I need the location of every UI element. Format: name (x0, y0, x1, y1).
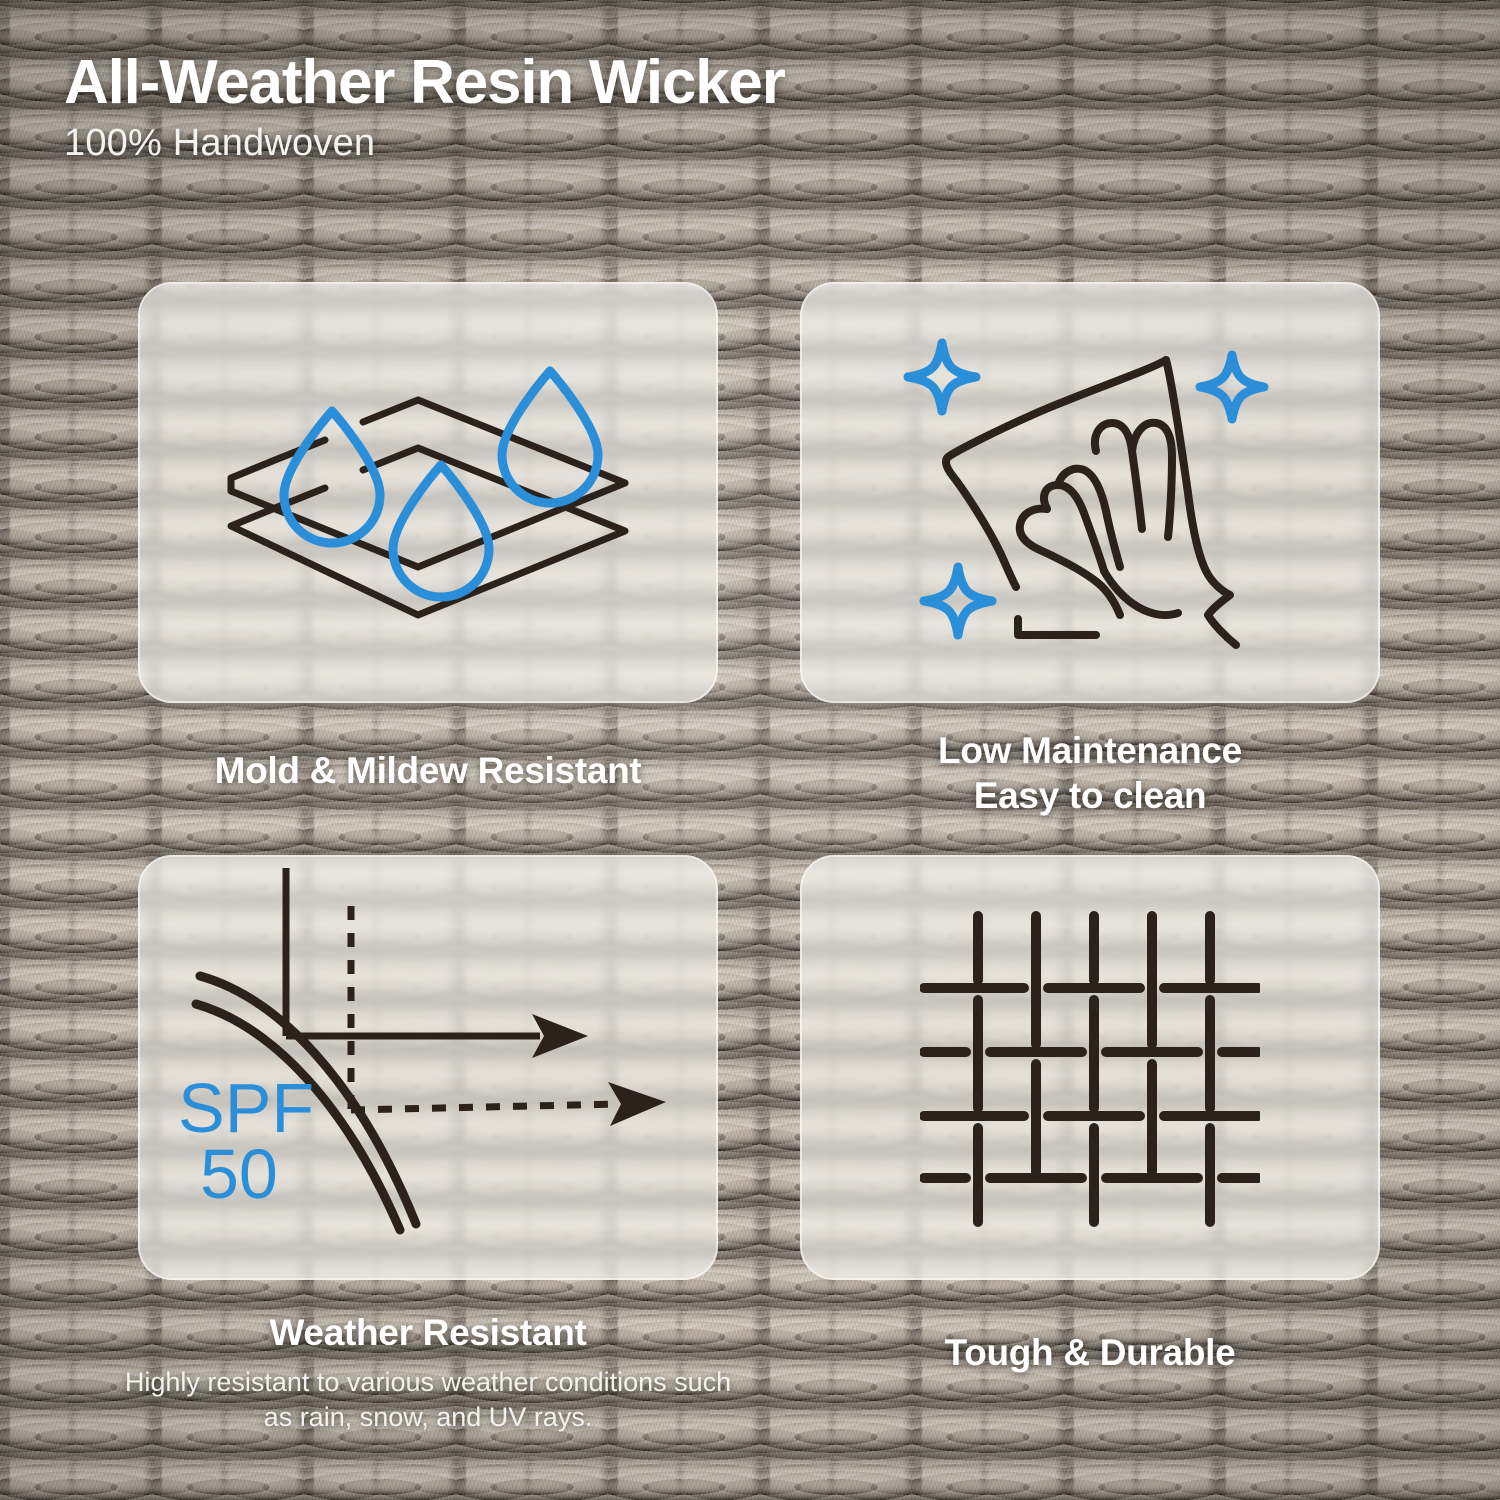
header-block: All-Weather Resin Wicker 100% Handwoven (64, 52, 785, 165)
product-feature-infographic: All-Weather Resin Wicker 100% Handwoven (0, 0, 1500, 1500)
caption-title: Tough & Durable (800, 1330, 1380, 1375)
page-title: All-Weather Resin Wicker (64, 52, 785, 114)
spf-uv-ray-deflection-icon: SPF 50 (168, 868, 688, 1268)
feature-card-mold-mildew (138, 282, 718, 703)
caption-title-line-1: Low Maintenance (800, 728, 1380, 773)
feature-card-low-maintenance (800, 282, 1380, 703)
page-subtitle: 100% Handwoven (64, 122, 785, 165)
icon-container (140, 284, 716, 701)
dashed-arrow-head (608, 1082, 666, 1126)
caption-mold-mildew: Mold & Mildew Resistant (138, 748, 718, 793)
hand-wiping-cloth-sparkles-icon (900, 333, 1280, 653)
caption-description: Highly resistant to various weather cond… (108, 1365, 748, 1434)
icon-container: SPF 50 (140, 857, 716, 1278)
caption-tough-durable: Tough & Durable (800, 1330, 1380, 1375)
water-droplets-on-layers-icon (213, 343, 643, 643)
caption-low-maintenance: Low Maintenance Easy to clean (800, 728, 1380, 818)
caption-weather-resistant: Weather Resistant Highly resistant to va… (108, 1310, 748, 1434)
basket-weave-pattern-icon (920, 908, 1260, 1228)
caption-title: Mold & Mildew Resistant (138, 748, 718, 793)
spf-label-line-2: 50 (200, 1135, 278, 1213)
feature-card-weather-resistant: SPF 50 (138, 855, 718, 1280)
icon-container (802, 857, 1378, 1278)
feature-card-tough-durable (800, 855, 1380, 1280)
caption-title-line-2: Easy to clean (800, 773, 1380, 818)
caption-title: Weather Resistant (108, 1310, 748, 1355)
icon-container (802, 284, 1378, 701)
solid-arrow-head (532, 1014, 588, 1058)
